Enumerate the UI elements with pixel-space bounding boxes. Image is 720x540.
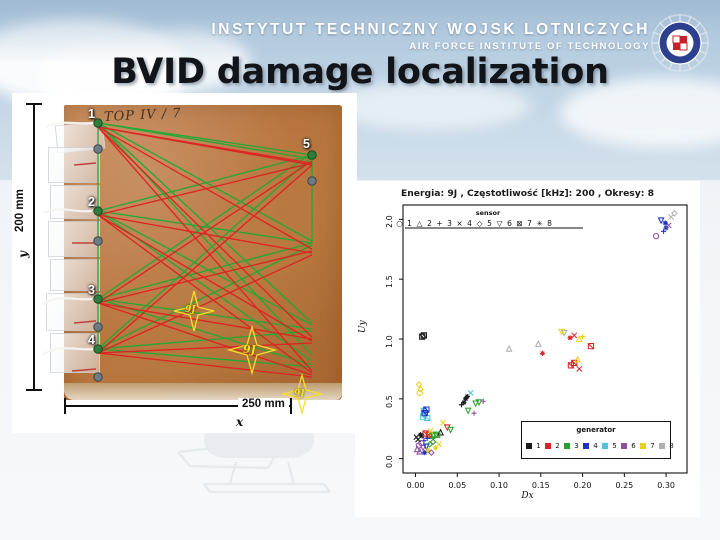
generator-legend: generator 12345678: [521, 421, 671, 459]
sensor-legend-label: 8: [545, 219, 554, 228]
sensor-label-4: 4: [88, 333, 95, 347]
scatter-plot-area: [355, 181, 700, 517]
sensor-legend-label: 3: [445, 219, 454, 228]
generator-legend-swatch: [640, 443, 646, 449]
generator-legend-row: 12345678: [526, 440, 666, 452]
data-point: [666, 223, 671, 228]
x-tick-label: 0.10: [490, 481, 508, 490]
sensor-legend-symbol: ◇: [475, 219, 484, 228]
specimen-photo-panel: TOP IV / 7 1 2 3 4 5 9J 9J 9J: [12, 93, 357, 433]
sensor-legend-label: 7: [525, 219, 534, 228]
sensor-legend-symbol: ⊠: [515, 219, 524, 228]
impact-label: 9J: [294, 389, 305, 399]
x-tick-label: 0.20: [574, 481, 592, 490]
generator-legend-swatch: [602, 443, 608, 449]
sensor-legend-label: 5: [485, 219, 494, 228]
sensor-legend-symbol: +: [435, 219, 444, 228]
sensor-legend-row: ○1△2+3×4◇5▽6⊠7✳8: [395, 218, 581, 229]
sensor-legend-label: 2: [425, 219, 434, 228]
data-point: [461, 400, 466, 405]
data-point: [436, 442, 441, 447]
x-tick-label: 0.05: [448, 481, 466, 490]
scatter-chart-panel: Energia: 9J , Częstotliwość [kHz]: 200 ,…: [355, 181, 700, 517]
institute-name-pl: INSTYTUT TECHNICZNY WOJSK LOTNICZYCH: [150, 21, 650, 39]
x-tick-label: 0.25: [615, 481, 633, 490]
generator-legend-swatch: [526, 443, 532, 449]
generator-legend-label: 2: [553, 442, 562, 450]
generator-legend-swatch: [564, 443, 570, 449]
generator-legend-swatch: [545, 443, 551, 449]
data-point: [466, 408, 471, 413]
data-point: [588, 344, 593, 349]
generator-legend-swatch: [621, 443, 627, 449]
data-point: [661, 229, 666, 234]
data-point: [659, 218, 664, 223]
y-tick-label: 1.0: [385, 335, 394, 348]
sensor-legend-symbol: △: [415, 219, 424, 228]
sensor-label-2: 2: [88, 195, 95, 209]
data-point: [575, 357, 580, 362]
generator-legend-label: 5: [610, 442, 619, 450]
sensor-legend-symbol: ✳: [535, 219, 544, 228]
page-title: BVID damage localization: [0, 52, 720, 92]
x-scale-bar: [64, 405, 292, 407]
generator-legend-swatch: [659, 443, 665, 449]
y-scale-bar: [33, 103, 35, 391]
data-point: [572, 333, 577, 338]
sensor-legend-symbol: ○: [395, 219, 404, 228]
generator-legend-title: generator: [522, 426, 670, 434]
data-point: [414, 435, 419, 440]
y-axis-label: y: [16, 251, 30, 258]
institute-name-en: AIR FORCE INSTITUTE OF TECHNOLOGY: [150, 41, 650, 52]
sensor-legend-label: 1: [405, 219, 414, 228]
generator-legend-label: 7: [648, 442, 657, 450]
data-point: [577, 366, 582, 371]
data-point: [536, 341, 541, 346]
impact-label: 9J: [185, 305, 196, 315]
x-axis-label: x: [236, 415, 243, 429]
y-tick-label: 1.5: [385, 275, 394, 288]
generator-legend-label: 3: [572, 442, 581, 450]
slide-canvas: INSTYTUT TECHNICZNY WOJSK LOTNICZYCH AIR…: [0, 0, 720, 540]
data-point: [506, 346, 511, 351]
sensor-legend-symbol: ▽: [495, 219, 504, 228]
generator-legend-label: 8: [667, 442, 676, 450]
sensor-legend-title: sensor: [395, 209, 581, 217]
generator-legend-swatch: [583, 443, 589, 449]
sensor-legend-label: 4: [465, 219, 474, 228]
data-point: [577, 336, 582, 341]
y-tick-label: 2.0: [385, 216, 394, 229]
sensor-label-5: 5: [303, 137, 310, 151]
data-point: [429, 450, 434, 455]
x-tick-label: 0.15: [532, 481, 550, 490]
y-tick-label: 0.0: [385, 455, 394, 468]
generator-legend-label: 6: [629, 442, 638, 450]
data-point: [653, 234, 658, 239]
data-point: [663, 220, 668, 225]
sensor-legend-symbol: ×: [455, 219, 464, 228]
sensor-legend-label: 6: [505, 219, 514, 228]
y-scale-label: 200 mm: [14, 189, 26, 232]
generator-legend-label: 1: [534, 442, 543, 450]
data-point: [468, 390, 473, 395]
data-point: [471, 411, 476, 416]
generator-legend-label: 4: [591, 442, 600, 450]
data-point: [540, 351, 545, 356]
sensor-label-1: 1: [88, 107, 95, 121]
data-point: [448, 427, 453, 432]
impact-label: 9J: [243, 343, 256, 356]
x-tick-label: 0.00: [407, 481, 425, 490]
data-point: [415, 446, 420, 451]
sensor-label-3: 3: [88, 283, 95, 297]
y-tick-label: 0.5: [385, 395, 394, 408]
x-tick-label: 0.30: [657, 481, 675, 490]
